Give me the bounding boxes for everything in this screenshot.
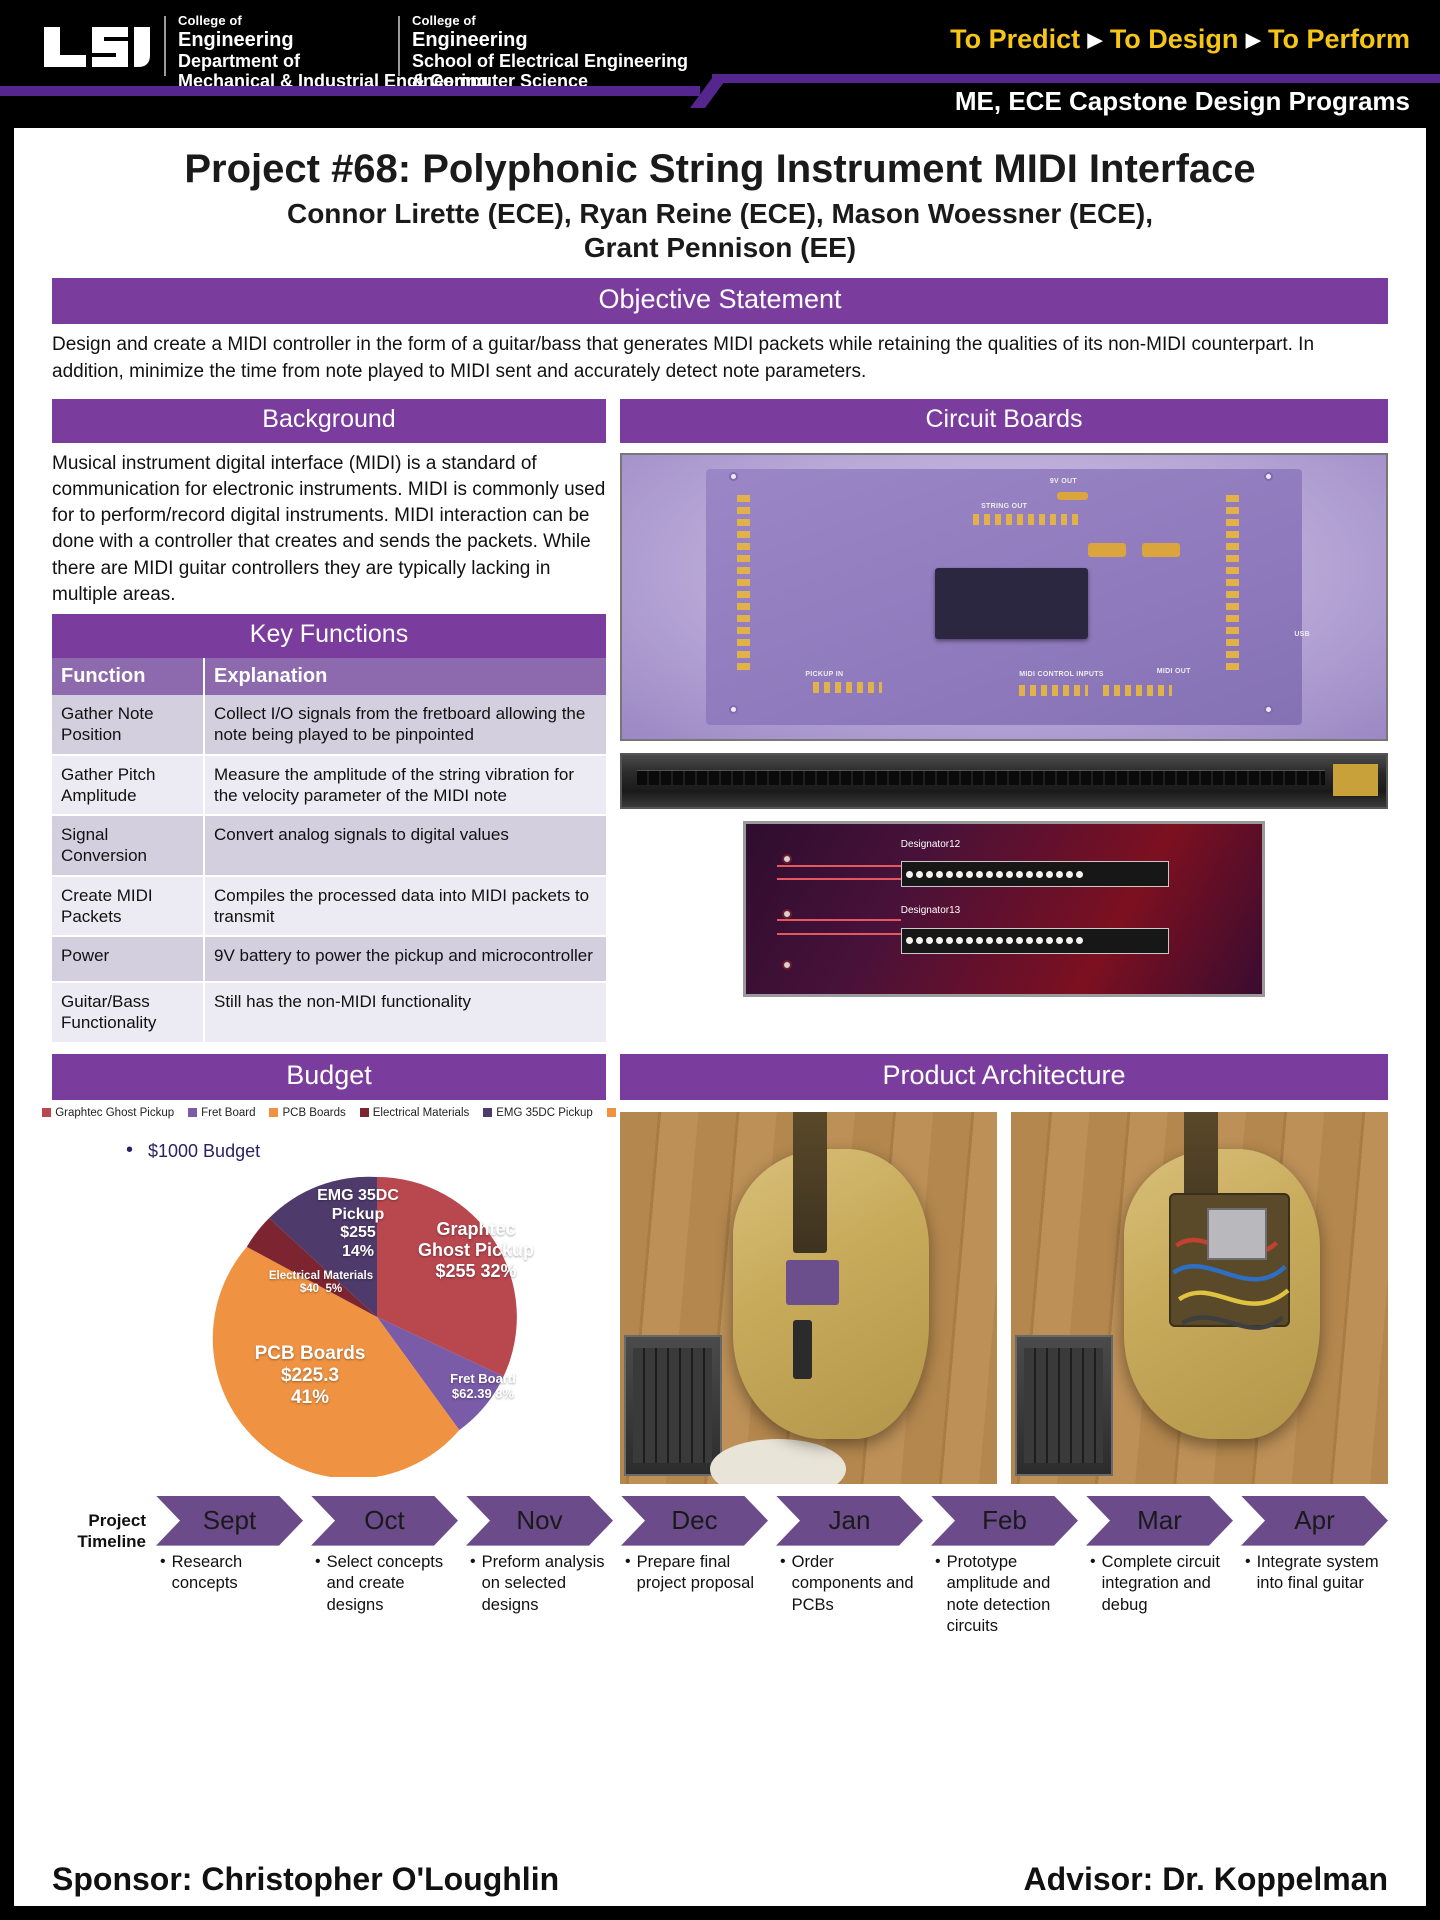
header-divider-1 [164,16,166,76]
timeline-row: Project Timeline Sept • Research concept… [52,1496,1388,1638]
cell-explanation: Still has the non-MIDI functionality [204,982,606,1043]
flex-via-3 [782,960,792,970]
triangle-right-icon-2: ▶ [1246,30,1261,51]
cell-function: Create MIDI Packets [52,876,204,937]
timeline-item-feb[interactable]: Feb • Prototype amplitude and note detec… [931,1496,1078,1638]
legend-item-fretboard: Fret Board [188,1107,255,1119]
legend-swatch-icon [483,1108,492,1117]
amplifier [1015,1335,1113,1476]
bullet-icon: • [126,1139,133,1162]
pad-row-top [973,514,1080,525]
pie-label-electrical: Electrical Materials $40 5% [251,1270,391,1297]
left-column: Background Musical instrument digital in… [52,399,606,1044]
table-row: Gather Pitch Amplitude Measure the ampli… [52,755,606,816]
table-row: Power 9V battery to power the pickup and… [52,936,606,982]
table-row: Signal Conversion Convert analog signals… [52,815,606,876]
label-pickup-in: PICKUP IN [805,671,843,678]
label-string-out: STRING OUT [981,503,1027,510]
timeline-month-apr: Apr [1241,1496,1388,1546]
timeline-desc-text: Research concepts [172,1552,303,1595]
flex-label-designator13: Designator13 [901,905,960,916]
legend-swatch-icon [607,1108,616,1117]
capacitor-2 [1142,543,1180,557]
pie-value: $40 [300,1283,319,1295]
legend-label: Electrical Materials [373,1107,470,1119]
bottom-columns: Budget Graphtec Ghost Pickup Fret Board … [14,1054,1426,1484]
timeline-month-mar: Mar [1086,1496,1233,1546]
pie-label-pcb: PCB Boards $225.3 41% [243,1343,377,1410]
legend-label: PCB Boards [282,1107,345,1119]
key-functions-heading: Key Functions [52,614,606,658]
guitar-cavity-photo [1011,1112,1388,1484]
cell-explanation: Measure the amplitude of the string vibr… [204,755,606,816]
pie-label-emg-value: $255 [303,1224,413,1243]
legend-label: EMG 35DC Pickup [496,1107,593,1119]
bullet-icon: • [935,1552,941,1638]
label-midi-out: MIDI OUT [1157,668,1191,675]
objective-text: Design and create a MIDI controller in t… [52,332,1388,384]
pie-label-graphtec: Graphtec Ghost Pickup $255 32% [413,1219,539,1283]
dept2-line1: School of Electrical Engineering [412,51,688,71]
label-9v-out: 9V OUT [1050,478,1077,485]
pie-label-emg-name: EMG 35DC Pickup [303,1187,413,1225]
legend-swatch-icon [42,1108,51,1117]
pad-row-bottom-2 [1019,685,1088,696]
timeline-desc-apr: • Integrate system into final guitar [1241,1552,1388,1595]
col-explanation: Explanation [204,658,606,695]
budget-heading: Budget [52,1054,606,1100]
header-divider-2 [398,16,400,76]
pie-value: $255 [435,1261,475,1281]
timeline-month-sept: Sept [156,1496,303,1546]
flex-trace-4 [777,933,901,935]
bullet-icon: • [625,1552,631,1595]
pie-label-emg: EMG 35DC Pickup $255 14% [303,1187,413,1263]
timeline-desc-nov: • Preform analysis on selected designs [466,1552,613,1616]
advisor-text: Advisor: Dr. Koppelman [1024,1861,1389,1898]
bullet-icon: • [780,1552,786,1616]
timeline-desc-feb: • Prototype amplitude and note detection… [931,1552,1078,1638]
fretboard-pcb-image [620,753,1388,809]
tagline-perform: To Perform [1268,24,1410,54]
cell-function: Signal Conversion [52,815,204,876]
architecture-photos [620,1112,1388,1484]
flex-via-1 [782,854,792,864]
pie-label-fretboard-name: Fret Board [429,1371,537,1386]
product-architecture-section: Product Architecture [620,1054,1388,1484]
label-usb: USB [1294,631,1310,638]
budget-chart: • $1000 Budget [52,1119,606,1479]
sponsor-text: Sponsor: Christopher O'Loughlin [52,1861,559,1898]
cell-explanation: Collect I/O signals from the fretboard a… [204,695,606,755]
pie-label-graphtec-value: $255 32% [413,1261,539,1282]
knob-strip [793,1320,812,1380]
mount-hole-bl [729,705,738,714]
pie-label-fretboard: Fret Board $62.39 8% [429,1371,537,1402]
legend-item-extra [607,1107,616,1119]
guitar-neck [793,1112,827,1253]
pad-row-bottom-1 [813,682,882,693]
cell-explanation: Convert analog signals to digital values [204,815,606,876]
flex-pad-row-2 [901,928,1169,954]
pad-column-left [737,495,750,671]
pie-label-pcb-value: $225.3 [243,1365,377,1387]
pie-label-graphtec-name: Graphtec Ghost Pickup [413,1219,539,1261]
pie-value: $62.39 [452,1386,492,1401]
mount-hole-tl [729,472,738,481]
legend-item-graphtec: Graphtec Ghost Pickup [42,1107,174,1119]
mount-hole-tr [1264,472,1273,481]
timeline-month-jan: Jan [776,1496,923,1546]
pie-percent: 32% [481,1261,517,1281]
cell-function: Guitar/Bass Functionality [52,982,204,1043]
timeline-item-oct[interactable]: Oct • Select concepts and create designs [311,1496,458,1638]
legend-label: Fret Board [201,1107,255,1119]
bullet-icon: • [470,1552,476,1616]
flex-label-designator12: Designator12 [901,839,960,850]
timeline-item-dec[interactable]: Dec • Prepare final project proposal [621,1496,768,1638]
legend-item-emg: EMG 35DC Pickup [483,1107,593,1119]
pie-label-emg-percent: 14% [303,1243,413,1262]
pie-label-fretboard-value: $62.39 8% [429,1386,537,1401]
tagline-design: To Design [1110,24,1239,54]
background-heading: Background [52,399,606,443]
fretboard-connector [1333,764,1379,796]
page-title: Project #68: Polyphonic String Instrumen… [14,148,1426,191]
timeline-desc-jan: • Order components and PCBs [776,1552,923,1616]
pie-label-electrical-value: $40 5% [251,1283,391,1297]
timeline-item-mar[interactable]: Mar • Complete circuit integration and d… [1086,1496,1233,1638]
product-architecture-heading: Product Architecture [620,1054,1388,1100]
key-functions-table: Function Explanation Gather Note Positio… [52,658,606,1044]
timeline-chevrons: Sept • Research concepts Oct • Select co… [156,1496,1388,1638]
label-midi-control-inputs: MIDI CONTROL INPUTS [1019,671,1104,678]
timeline-desc-mar: • Complete circuit integration and debug [1086,1552,1233,1616]
pad-column-right [1226,495,1239,671]
program-title: ME, ECE Capstone Design Programs [955,86,1410,117]
bullet-icon: • [1090,1552,1096,1616]
amplifier [624,1335,722,1476]
flex-pcb-image: Designator12 Designator13 [743,821,1265,997]
poster-footer: Sponsor: Christopher O'Loughlin Advisor:… [14,1861,1426,1898]
pie-legend: Graphtec Ghost Pickup Fret Board PCB Boa… [52,1107,606,1119]
table-row: Guitar/Bass Functionality Still has the … [52,982,606,1043]
col-function: Function [52,658,204,695]
cell-explanation: 9V battery to power the pickup and micro… [204,936,606,982]
objective-section: Objective Statement Design and create a … [14,278,1426,384]
mount-hole-br [1264,705,1273,714]
pie-label-electrical-name: Electrical Materials [251,1270,391,1284]
legend-label: Graphtec Ghost Pickup [55,1107,174,1119]
tagline-predict: To Predict [950,24,1080,54]
dept2-engineering: Engineering [412,29,688,51]
budget-section: Budget Graphtec Ghost Pickup Fret Board … [52,1054,606,1484]
table-row: Gather Note Position Collect I/O signals… [52,695,606,755]
timeline-month-feb: Feb [931,1496,1078,1546]
fret-trace-strip [637,770,1325,785]
timeline-desc-text: Prepare final project proposal [637,1552,768,1595]
objective-heading: Objective Statement [52,278,1388,324]
poster-root: College of Engineering Department of Mec… [0,0,1440,1920]
dept2-college: College of [412,14,688,29]
flex-pad-row-1 [901,861,1169,887]
timeline-desc-text: Preform analysis on selected designs [482,1552,613,1616]
guitar-front-photo [620,1112,997,1484]
mid-columns: Background Musical instrument digital in… [14,399,1426,1044]
header-tagline: To Predict ▶ To Design ▶ To Perform [950,24,1410,55]
table-row: Create MIDI Packets Compiles the process… [52,876,606,937]
timeline-month-oct: Oct [311,1496,458,1546]
timeline-item-sept[interactable]: Sept • Research concepts [156,1496,303,1638]
pie-percent: 5% [325,1283,342,1295]
main-pcb-image: 9V OUT STRING OUT MIDI OUT MIDI CONTROL … [620,453,1388,741]
flex-trace-2 [777,878,901,880]
microcontroller-chip [935,568,1088,639]
legend-swatch-icon [188,1108,197,1117]
flex-via-2 [782,909,792,919]
author-line-2: Grant Pennison (EE) [14,231,1426,265]
author-line-1: Connor Lirette (ECE), Ryan Reine (ECE), … [14,197,1426,231]
header-accent-band: ME, ECE Capstone Design Programs [0,74,1440,126]
right-column: Circuit Boards [620,399,1388,1044]
capacitor-1 [1088,543,1126,557]
flex-trace-3 [777,919,901,921]
pie-chart: Graphtec Ghost Pickup $255 32% Fret Boar… [207,1157,547,1477]
timeline-item-jan[interactable]: Jan • Order components and PCBs [776,1496,923,1638]
legend-swatch-icon [269,1108,278,1117]
band-right [712,74,1440,83]
triangle-right-icon: ▶ [1088,30,1103,51]
timeline-label-line2: Timeline [52,1531,146,1552]
timeline-desc-text: Prototype amplitude and note detection c… [947,1552,1078,1638]
table-header-row: Function Explanation [52,658,606,695]
timeline-desc-text: Select concepts and create designs [327,1552,458,1616]
legend-item-pcb: PCB Boards [269,1107,345,1119]
bullet-icon: • [160,1552,166,1595]
pie-percent: 8% [495,1386,514,1401]
timeline-desc-text: Order components and PCBs [792,1552,923,1616]
pie-label-pcb-percent: 41% [243,1387,377,1409]
band-left [0,86,700,96]
timeline-month-nov: Nov [466,1496,613,1546]
bullet-icon: • [1245,1552,1251,1595]
bullet-icon: • [315,1552,321,1616]
cell-function: Gather Note Position [52,695,204,755]
legend-item-electrical: Electrical Materials [360,1107,470,1119]
cell-function: Power [52,936,204,982]
pickup-module [786,1260,839,1305]
cell-function: Gather Pitch Amplitude [52,755,204,816]
timeline-desc-text: Integrate system into final guitar [1257,1552,1388,1595]
poster-canvas: Project #68: Polyphonic String Instrumen… [14,128,1426,1906]
background-text: Musical instrument digital interface (MI… [52,451,606,608]
timeline-desc-text: Complete circuit integration and debug [1102,1552,1233,1616]
timeline-month-dec: Dec [621,1496,768,1546]
timeline-desc-oct: • Select concepts and create designs [311,1552,458,1616]
pie-label-pcb-name: PCB Boards [243,1343,377,1365]
mounted-pcb [1207,1208,1267,1260]
lsu-logo-icon [42,24,150,70]
timeline-desc-dec: • Prepare final project proposal [621,1552,768,1595]
timeline-label-line1: Project [52,1510,146,1531]
project-timeline: Project Timeline Sept • Research concept… [14,1496,1426,1638]
capacitor-3 [1057,492,1088,501]
timeline-item-nov[interactable]: Nov • Preform analysis on selected desig… [466,1496,613,1638]
circuit-boards-heading: Circuit Boards [620,399,1388,443]
flex-trace-1 [777,865,901,867]
cell-explanation: Compiles the processed data into MIDI pa… [204,876,606,937]
legend-swatch-icon [360,1108,369,1117]
pad-row-bottom-3 [1103,685,1172,696]
timeline-label: Project Timeline [52,1496,156,1638]
timeline-desc-sept: • Research concepts [156,1552,303,1595]
timeline-item-apr[interactable]: Apr • Integrate system into final guitar [1241,1496,1388,1638]
